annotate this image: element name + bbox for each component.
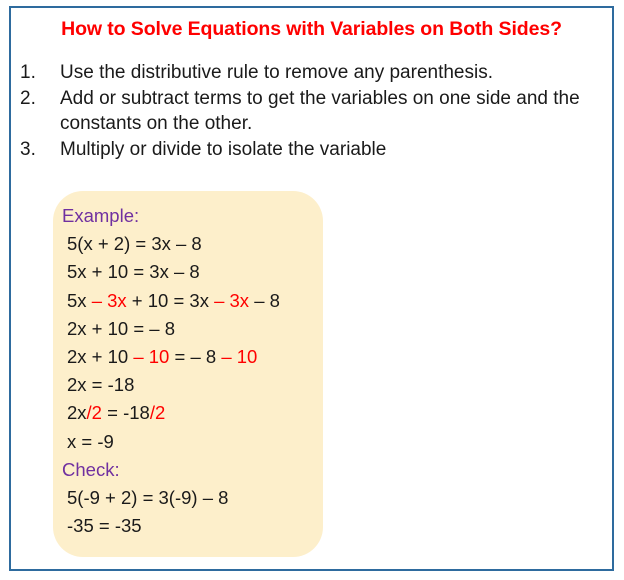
list-item: 2. Add or subtract terms to get the vari… [18,86,598,137]
equation-highlight: – 3x [92,290,127,311]
equation-text: – 8 [249,290,280,311]
equation-highlight: – 3x [214,290,249,311]
list-item: 1. Use the distributive rule to remove a… [18,60,598,86]
example-lines: Example:5(x + 2) = 3x – 85x + 10 = 3x – … [62,202,320,540]
page-content: How to Solve Equations with Variables on… [0,0,624,580]
equation-text: x = -9 [67,431,114,452]
equation-text: Example: [62,205,139,226]
equation-text: 2x + 10 [67,346,133,367]
example-section-label: Example: [62,202,320,230]
equation-highlight: – 10 [221,346,257,367]
equation-text: + 10 = 3x [127,290,214,311]
equation-highlight: – 10 [133,346,169,367]
equation-text: 5x + 10 = 3x – 8 [67,261,200,282]
equation-line: 2x/2 = -18/2 [62,399,320,427]
equation-text: 2x [67,402,87,423]
equation-text: = – 8 [169,346,221,367]
equation-line: 5(x + 2) = 3x – 8 [62,230,320,258]
equation-text: Check: [62,459,120,480]
equation-highlight: /2 [150,402,165,423]
list-item-text: Use the distributive rule to remove any … [60,60,598,86]
equation-text: 5x [67,290,92,311]
equation-highlight: /2 [87,402,102,423]
list-item: 3. Multiply or divide to isolate the var… [18,137,598,163]
equation-text: 2x = -18 [67,374,134,395]
equation-text: = -18 [102,402,150,423]
equation-line: 5x + 10 = 3x – 8 [62,258,320,286]
worksheet-page: How to Solve Equations with Variables on… [0,0,624,580]
list-item-number: 1. [20,60,48,86]
equation-line: 2x + 10 – 10 = – 8 – 10 [62,343,320,371]
example-section-label: Check: [62,456,320,484]
equation-text: -35 = -35 [67,515,142,536]
equation-line: x = -9 [62,428,320,456]
equation-line: 2x + 10 = – 8 [62,315,320,343]
list-item-text: Multiply or divide to isolate the variab… [60,137,598,163]
list-item-text: Add or subtract terms to get the variabl… [60,86,598,137]
equation-line: -35 = -35 [62,512,320,540]
page-title: How to Solve Equations with Variables on… [11,18,612,41]
steps-list: 1. Use the distributive rule to remove a… [18,60,598,162]
equation-line: 5(-9 + 2) = 3(-9) – 8 [62,484,320,512]
example-callout-box: Example:5(x + 2) = 3x – 85x + 10 = 3x – … [53,191,323,557]
equation-text: 5(x + 2) = 3x – 8 [67,233,202,254]
list-item-number: 3. [20,137,48,163]
equation-line: 5x – 3x + 10 = 3x – 3x – 8 [62,287,320,315]
equation-text: 2x + 10 = – 8 [67,318,175,339]
list-item-number: 2. [20,86,48,112]
equation-text: 5(-9 + 2) = 3(-9) – 8 [67,487,228,508]
equation-line: 2x = -18 [62,371,320,399]
